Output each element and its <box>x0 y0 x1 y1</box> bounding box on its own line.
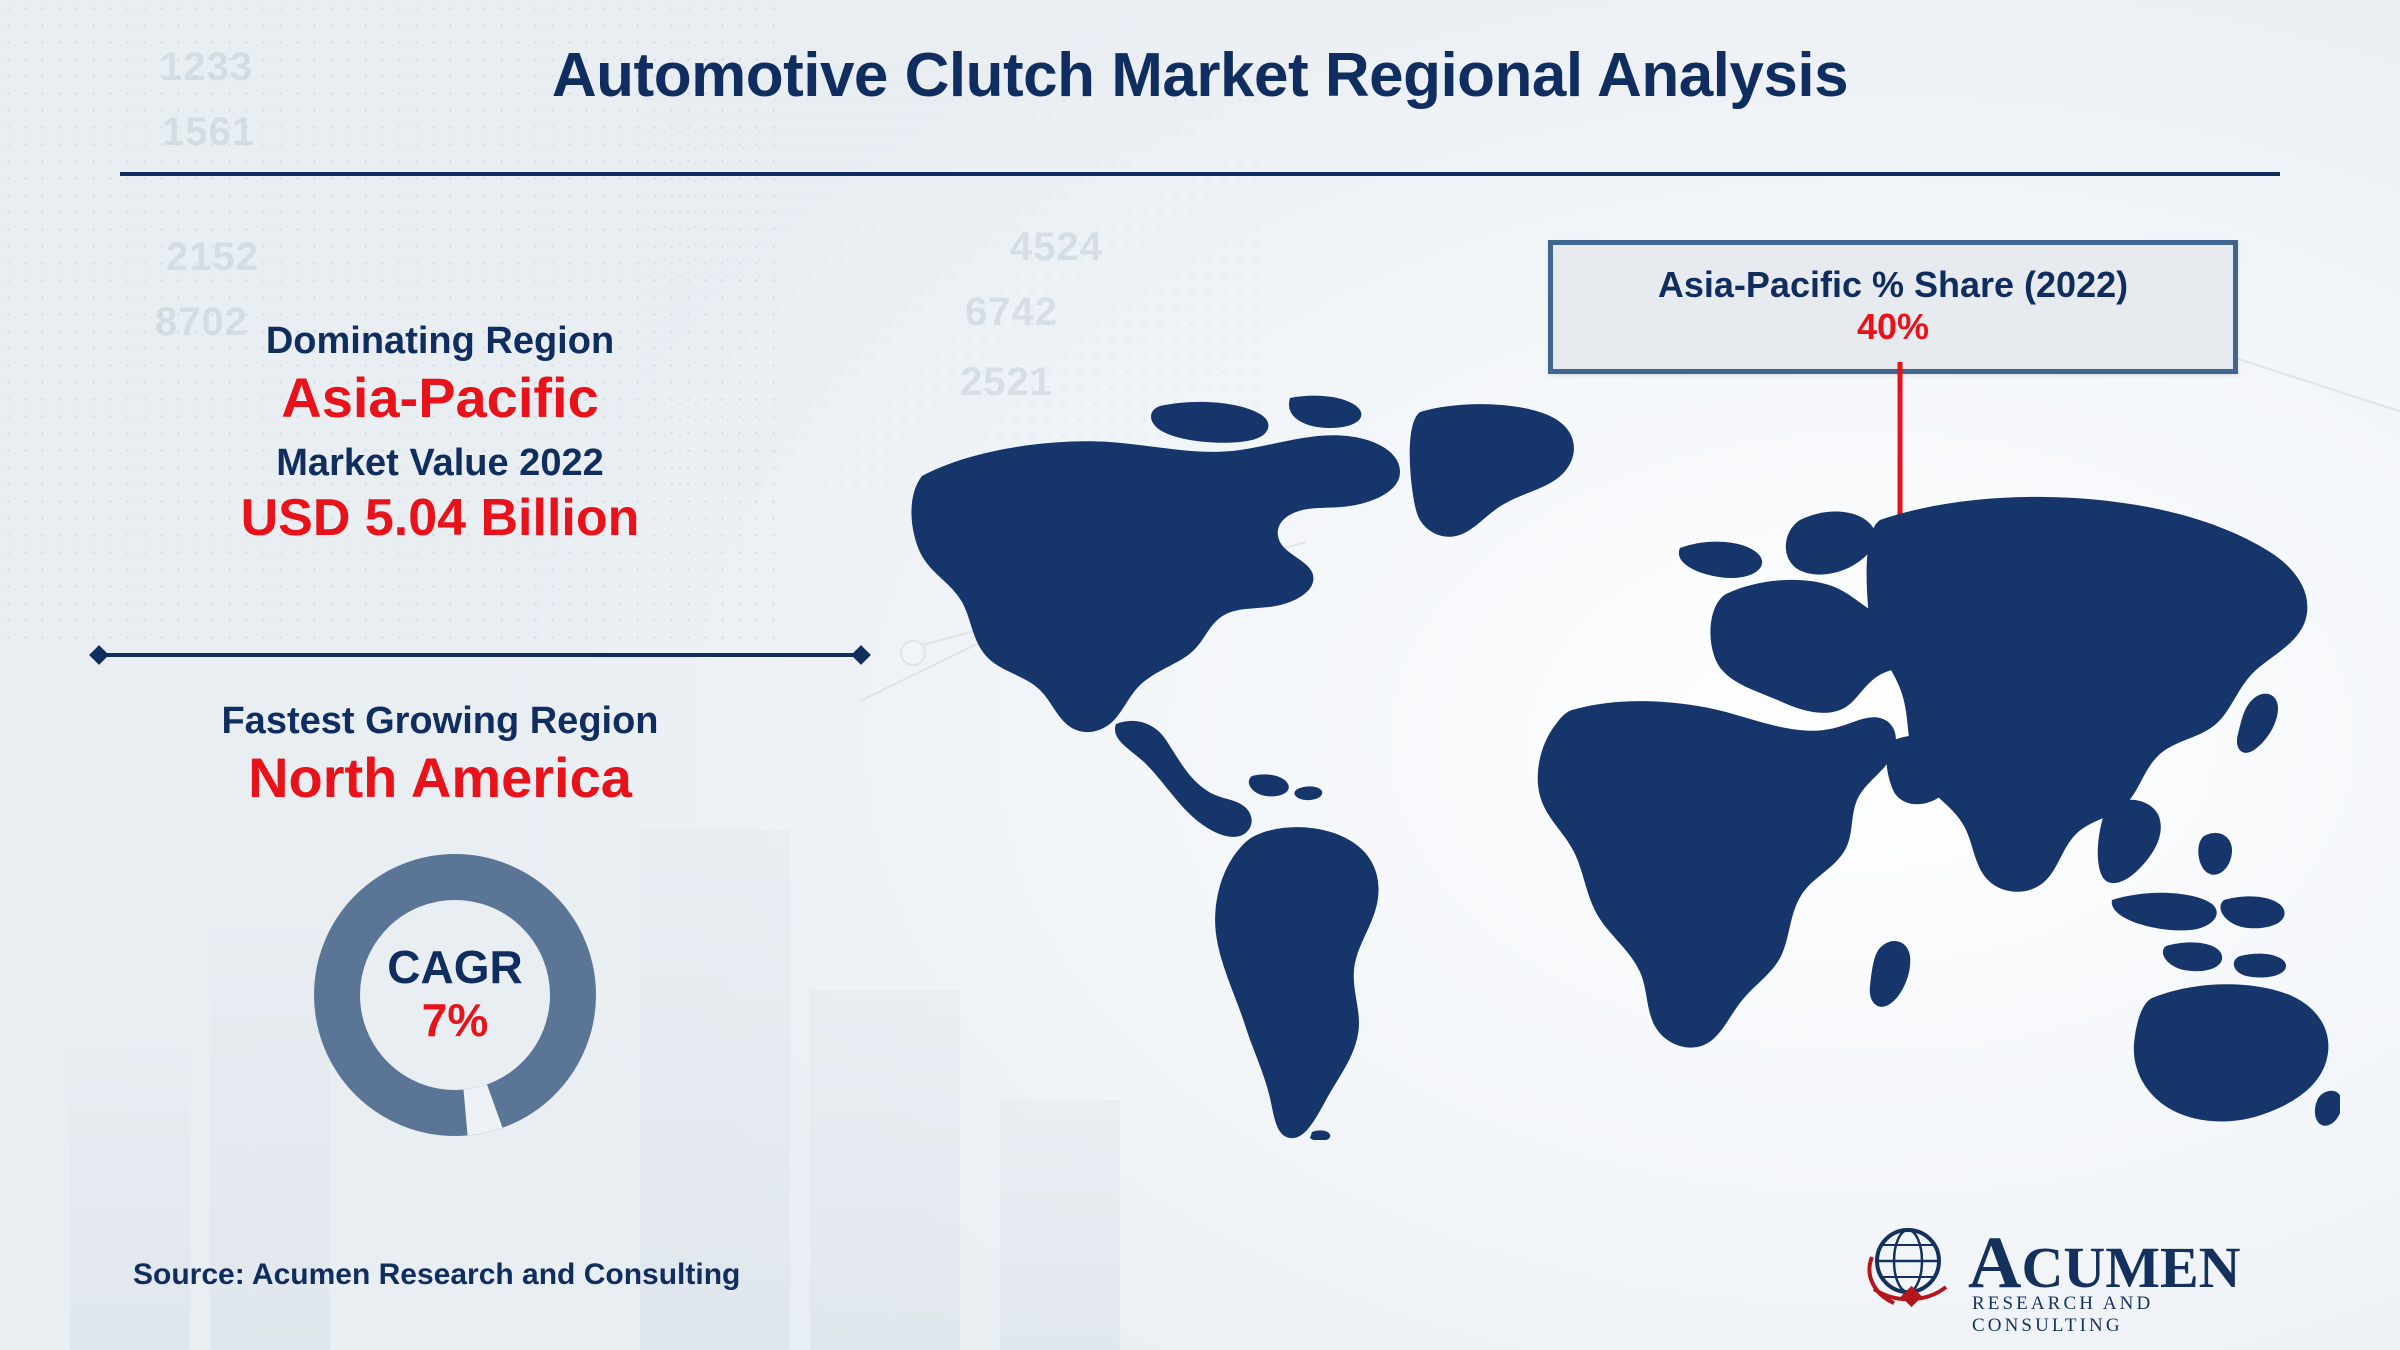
dominating-region-label: Dominating Region <box>90 320 790 363</box>
map-landmasses <box>911 396 2340 1140</box>
background-number: 6742 <box>965 290 1058 335</box>
market-value-value: USD 5.04 Billion <box>90 491 790 546</box>
globe-icon <box>1860 1217 1960 1317</box>
fastest-growing-label: Fastest Growing Region <box>90 700 790 743</box>
page-title: Automotive Clutch Market Regional Analys… <box>0 40 2400 111</box>
section-divider <box>80 648 880 662</box>
dominating-region-value: Asia-Pacific <box>90 369 790 428</box>
fastest-growing-value: North America <box>90 749 790 808</box>
asia-pacific-share-callout: Asia-Pacific % Share (2022) 40% <box>1548 240 2238 374</box>
acumen-logo: ACUMEN RESEARCH AND CONSULTING <box>1860 1215 2300 1320</box>
market-value-label: Market Value 2022 <box>90 442 790 485</box>
left-stats-panel: Dominating Region Asia-Pacific Market Va… <box>90 320 790 545</box>
callout-value: 40% <box>1857 304 1929 349</box>
logo-initial: A <box>1968 1222 2021 1304</box>
fastest-growing-panel: Fastest Growing Region North America <box>90 700 790 808</box>
divider-bar <box>102 653 858 657</box>
background-ghost-bar-1 <box>70 1050 190 1350</box>
infographic-canvas: 1233 1561 2152 8702 6742 4524 2521 Autom… <box>0 0 2400 1350</box>
source-text: Source: Acumen Research and Consulting <box>133 1258 740 1292</box>
world-map <box>860 380 2340 1140</box>
callout-title: Asia-Pacific % Share (2022) <box>1658 265 2128 305</box>
donut-center-text: CAGR 7% <box>305 845 605 1145</box>
background-number: 2152 <box>166 235 259 280</box>
background-number: 1561 <box>162 110 255 155</box>
background-number: 4524 <box>1010 225 1103 270</box>
cagr-label: CAGR <box>387 942 522 993</box>
logo-name-rest: CUMEN <box>2021 1235 2240 1300</box>
cagr-value: 7% <box>422 993 488 1048</box>
title-divider <box>120 172 2280 176</box>
cagr-donut-chart: CAGR 7% <box>305 845 605 1145</box>
logo-tagline: RESEARCH AND CONSULTING <box>1972 1293 2300 1337</box>
